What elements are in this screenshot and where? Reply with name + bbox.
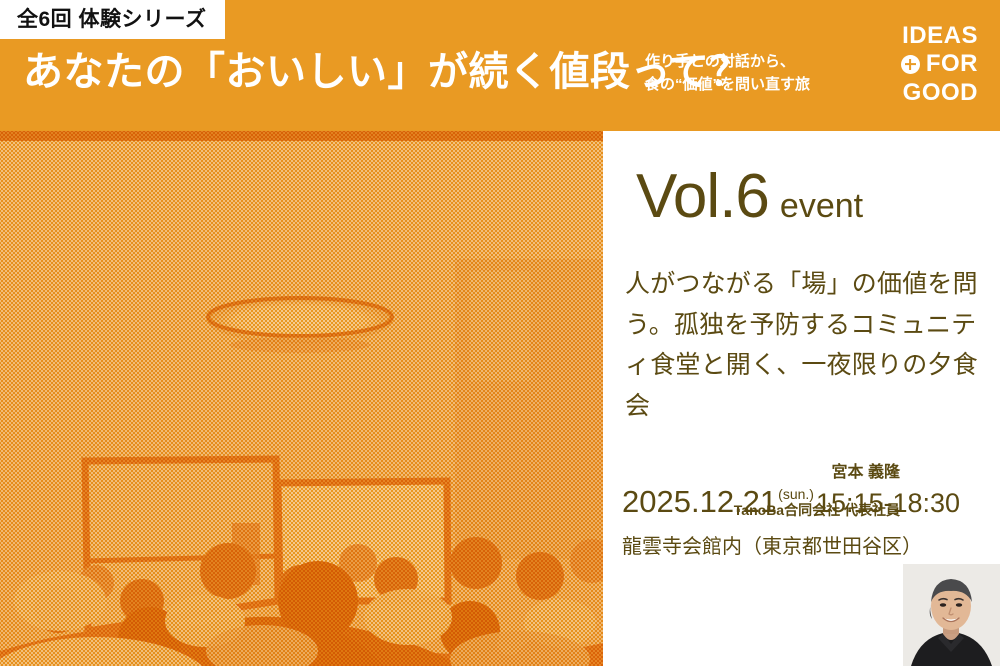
speaker-portrait-artwork: [903, 564, 1000, 666]
speaker-name: 宮本 義隆: [700, 465, 900, 481]
volume-event-label: event: [780, 189, 863, 223]
volume-number: Vol.6: [636, 166, 769, 228]
logo-line-ideas: IDEAS: [868, 22, 978, 50]
logo-line-for-row: FOR: [868, 50, 978, 78]
speaker-photo: [903, 564, 1000, 666]
volume-heading: Vol.6 event: [636, 166, 863, 228]
poster-subtitle: 作り手との対話から、 食の“価値”を問い直す旅: [645, 50, 810, 97]
logo-line-good: GOOD: [868, 79, 978, 107]
series-badge-label: 全6回 体験シリーズ: [17, 9, 206, 30]
event-venue: 龍雲寺会館内（東京都世田谷区）: [622, 537, 922, 557]
poster-header: 全6回 体験シリーズ あなたの「おいしい」が続く値段って？ 作り手との対話から、…: [0, 0, 1000, 131]
poster-subtitle-line-2: 食の“価値”を問い直す旅: [645, 73, 810, 96]
event-poster: 全6回 体験シリーズ あなたの「おいしい」が続く値段って？ 作り手との対話から、…: [0, 0, 1000, 666]
speaker-info: 宮本 義隆 TanoBa合同会社 代表社員: [700, 465, 900, 517]
plus-circle-icon: [901, 55, 920, 74]
ideas-for-good-logo[interactable]: IDEAS FOR GOOD: [868, 22, 978, 107]
speaker-role: TanoBa合同会社 代表社員: [700, 503, 900, 517]
series-badge: 全6回 体験シリーズ: [0, 0, 225, 39]
logo-line-for: FOR: [926, 50, 978, 78]
event-description: 人がつながる「場」の価値を問う。孤独を予防するコミュニティ食堂と開く、一夜限りの…: [625, 264, 993, 426]
event-photo-artwork: [0, 131, 603, 666]
poster-subtitle-line-1: 作り手との対話から、: [645, 50, 810, 73]
poster-title: あなたの「おいしい」が続く値段って？: [23, 52, 750, 92]
event-photo: [0, 131, 603, 666]
